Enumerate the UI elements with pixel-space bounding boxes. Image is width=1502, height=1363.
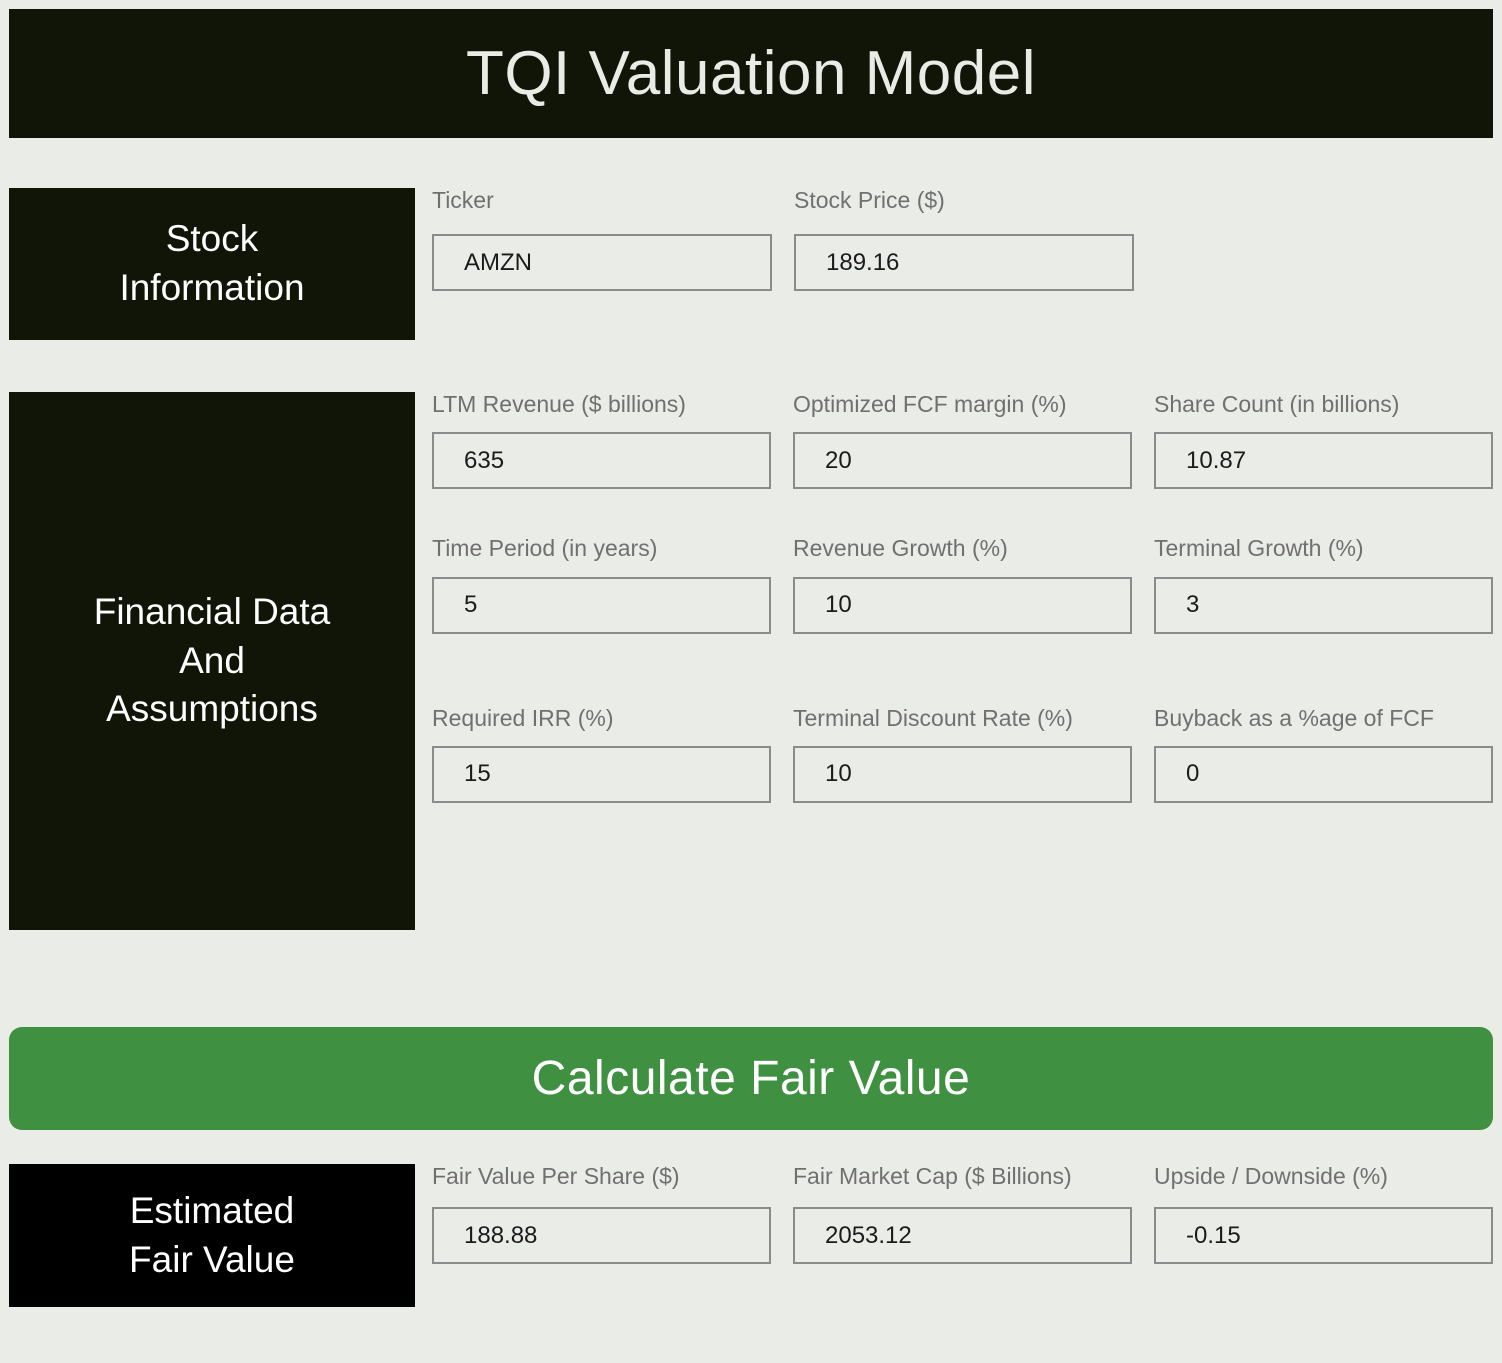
page-title: TQI Valuation Model	[466, 43, 1036, 105]
buyback-percentage-input[interactable]	[1154, 746, 1493, 803]
estimated-fair-value-fields: Fair Value Per Share ($) Fair Market Cap…	[415, 1164, 1493, 1307]
financial-assumptions-section: Financial DataAndAssumptions LTM Revenue…	[9, 392, 1493, 930]
financial-assumptions-section-label: Financial DataAndAssumptions	[9, 392, 415, 930]
stock-price-input[interactable]	[794, 234, 1134, 291]
required-irr-input[interactable]	[432, 746, 771, 803]
field-fair-value-per-share: Fair Value Per Share ($)	[432, 1164, 771, 1264]
estimated-fair-value-section-label: EstimatedFair Value	[9, 1164, 415, 1307]
estimated-fair-value-section: EstimatedFair Value Fair Value Per Share…	[9, 1164, 1493, 1307]
field-stock-price: Stock Price ($)	[794, 188, 1134, 291]
terminal-discount-rate-input[interactable]	[793, 746, 1132, 803]
field-label-terminal-discount-rate: Terminal Discount Rate (%)	[793, 706, 1132, 746]
financial-assumptions-fields: LTM Revenue ($ billions) Optimized FCF m…	[415, 392, 1493, 930]
financial-row-2: Time Period (in years) Revenue Growth (%…	[432, 536, 1493, 633]
app-header: TQI Valuation Model	[9, 9, 1493, 138]
field-label-fair-value-per-share: Fair Value Per Share ($)	[432, 1164, 771, 1207]
stock-information-row: Ticker Stock Price ($)	[432, 188, 1493, 291]
field-label-fair-market-cap: Fair Market Cap ($ Billions)	[793, 1164, 1132, 1207]
valuation-model-app: TQI Valuation Model StockInformation Tic…	[0, 9, 1502, 1363]
fair-value-per-share-output[interactable]	[432, 1207, 771, 1264]
ticker-input[interactable]	[432, 234, 772, 291]
field-share-count: Share Count (in billions)	[1154, 392, 1493, 489]
field-fair-market-cap: Fair Market Cap ($ Billions)	[793, 1164, 1132, 1264]
calculate-fair-value-button[interactable]: Calculate Fair Value	[9, 1027, 1493, 1130]
optimized-fcf-margin-input[interactable]	[793, 432, 1132, 489]
fair-market-cap-output[interactable]	[793, 1207, 1132, 1264]
financial-row-1: LTM Revenue ($ billions) Optimized FCF m…	[432, 392, 1493, 489]
revenue-growth-input[interactable]	[793, 577, 1132, 634]
field-required-irr: Required IRR (%)	[432, 706, 771, 803]
field-label-share-count: Share Count (in billions)	[1154, 392, 1493, 432]
field-label-revenue-growth: Revenue Growth (%)	[793, 536, 1132, 576]
field-label-buyback-percentage: Buyback as a %age of FCF	[1154, 706, 1493, 746]
field-buyback-percentage: Buyback as a %age of FCF	[1154, 706, 1493, 803]
field-label-ticker: Ticker	[432, 188, 772, 234]
field-label-ltm-revenue: LTM Revenue ($ billions)	[432, 392, 771, 432]
stock-information-section-label: StockInformation	[9, 188, 415, 340]
field-label-stock-price: Stock Price ($)	[794, 188, 1134, 234]
field-label-upside-downside: Upside / Downside (%)	[1154, 1164, 1493, 1207]
share-count-input[interactable]	[1154, 432, 1493, 489]
field-label-terminal-growth: Terminal Growth (%)	[1154, 536, 1493, 576]
field-upside-downside: Upside / Downside (%)	[1154, 1164, 1493, 1264]
field-revenue-growth: Revenue Growth (%)	[793, 536, 1132, 633]
field-optimized-fcf-margin: Optimized FCF margin (%)	[793, 392, 1132, 489]
ltm-revenue-input[interactable]	[432, 432, 771, 489]
time-period-input[interactable]	[432, 577, 771, 634]
field-time-period: Time Period (in years)	[432, 536, 771, 633]
stock-information-fields: Ticker Stock Price ($)	[415, 188, 1493, 340]
field-terminal-discount-rate: Terminal Discount Rate (%)	[793, 706, 1132, 803]
field-label-time-period: Time Period (in years)	[432, 536, 771, 576]
field-ticker: Ticker	[432, 188, 772, 291]
field-label-required-irr: Required IRR (%)	[432, 706, 771, 746]
field-label-optimized-fcf-margin: Optimized FCF margin (%)	[793, 392, 1132, 432]
financial-row-3: Required IRR (%) Terminal Discount Rate …	[432, 706, 1493, 803]
stock-information-section: StockInformation Ticker Stock Price ($)	[9, 188, 1493, 340]
field-terminal-growth: Terminal Growth (%)	[1154, 536, 1493, 633]
field-ltm-revenue: LTM Revenue ($ billions)	[432, 392, 771, 489]
estimated-fair-value-row: Fair Value Per Share ($) Fair Market Cap…	[432, 1164, 1493, 1264]
upside-downside-output[interactable]	[1154, 1207, 1493, 1264]
terminal-growth-input[interactable]	[1154, 577, 1493, 634]
